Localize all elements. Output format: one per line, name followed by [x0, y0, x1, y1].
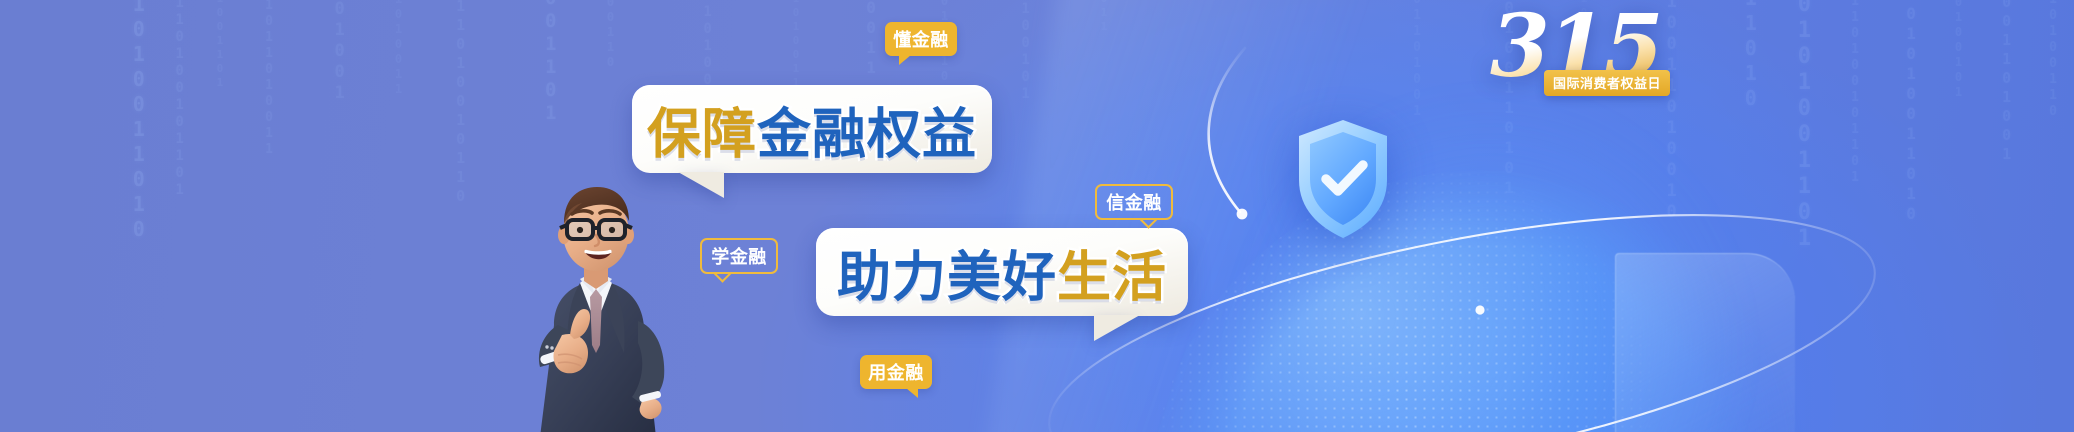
binary-column: 0011010 [1740, 0, 1761, 111]
binary-column: 011010010110 [452, 0, 468, 206]
headline-secondary-segment-blue: 助力美好 [837, 246, 1057, 309]
binary-column: 0110100101 [1952, 0, 1964, 100]
binary-column: 110100101 [1018, 0, 1033, 103]
headline-secondary-segment-gold: 生活 [1057, 246, 1167, 309]
tag-xue-jinrong[interactable]: 学金融 [700, 238, 778, 274]
headline-primary-segment-gold: 保障 [647, 103, 757, 166]
binary-column: 01101001 [1410, 0, 1424, 120]
binary-column: 0101001101 [1792, 0, 1815, 252]
logo-315-ribbon: 国际消费者权益日 [1544, 70, 1670, 96]
tag-label: 用金融 [868, 359, 924, 385]
headline-secondary-text: 助力美好生活 [816, 233, 1188, 312]
binary-column: 1001010011010 [1902, 0, 1919, 224]
tag-nub [906, 388, 918, 398]
tag-dong-jinrong[interactable]: 懂金融 [885, 22, 957, 56]
tag-xin-jinrong[interactable]: 信金融 [1095, 184, 1173, 220]
tag-label: 信金融 [1106, 189, 1162, 215]
headline-bubble-secondary: 助力美好生活 [816, 228, 1188, 316]
binary-column: 0110100101101 [172, 0, 187, 199]
headline-primary-text: 保障金融权益 [632, 90, 992, 169]
tag-nub [899, 55, 911, 65]
headline-primary-segment-blue: 金融权益 [757, 103, 977, 166]
binary-column: 1010011010 [128, 0, 149, 242]
binary-column: 101001101 [214, 0, 225, 90]
shield-check-icon [1295, 117, 1391, 241]
binary-column: 1001101 [540, 0, 560, 125]
bubble-tail [1094, 315, 1140, 341]
bubble-tail [678, 172, 724, 198]
logo-315: 315 国际消费者权益日 [1490, 2, 1680, 102]
tag-label: 懂金融 [893, 26, 949, 52]
binary-column: 01101001 [330, 0, 348, 104]
binary-column: 1001011010011 [262, 0, 276, 158]
tag-label: 学金融 [711, 243, 767, 269]
binary-column: 1010011 [1098, 0, 1109, 34]
binary-column: 1010011 [392, 0, 404, 97]
light-sweep [971, 0, 1489, 432]
binary-column: 0110100101101 [1848, 0, 1862, 186]
binary-column: 10100110 [604, 0, 616, 70]
glass-panel-decoration [1615, 253, 1795, 432]
binary-column: 10100110 [2046, 0, 2060, 120]
headline-bubble-primary: 保障金融权益 [632, 85, 992, 173]
promotional-banner: 1010011010011010010110110100110110010110… [0, 0, 2074, 432]
businessman-thumbs-up-icon [496, 175, 696, 432]
tag-yong-jinrong[interactable]: 用金融 [860, 355, 932, 389]
binary-column: 101001101001 [1998, 0, 2014, 164]
binary-column: 10011 [862, 0, 879, 78]
